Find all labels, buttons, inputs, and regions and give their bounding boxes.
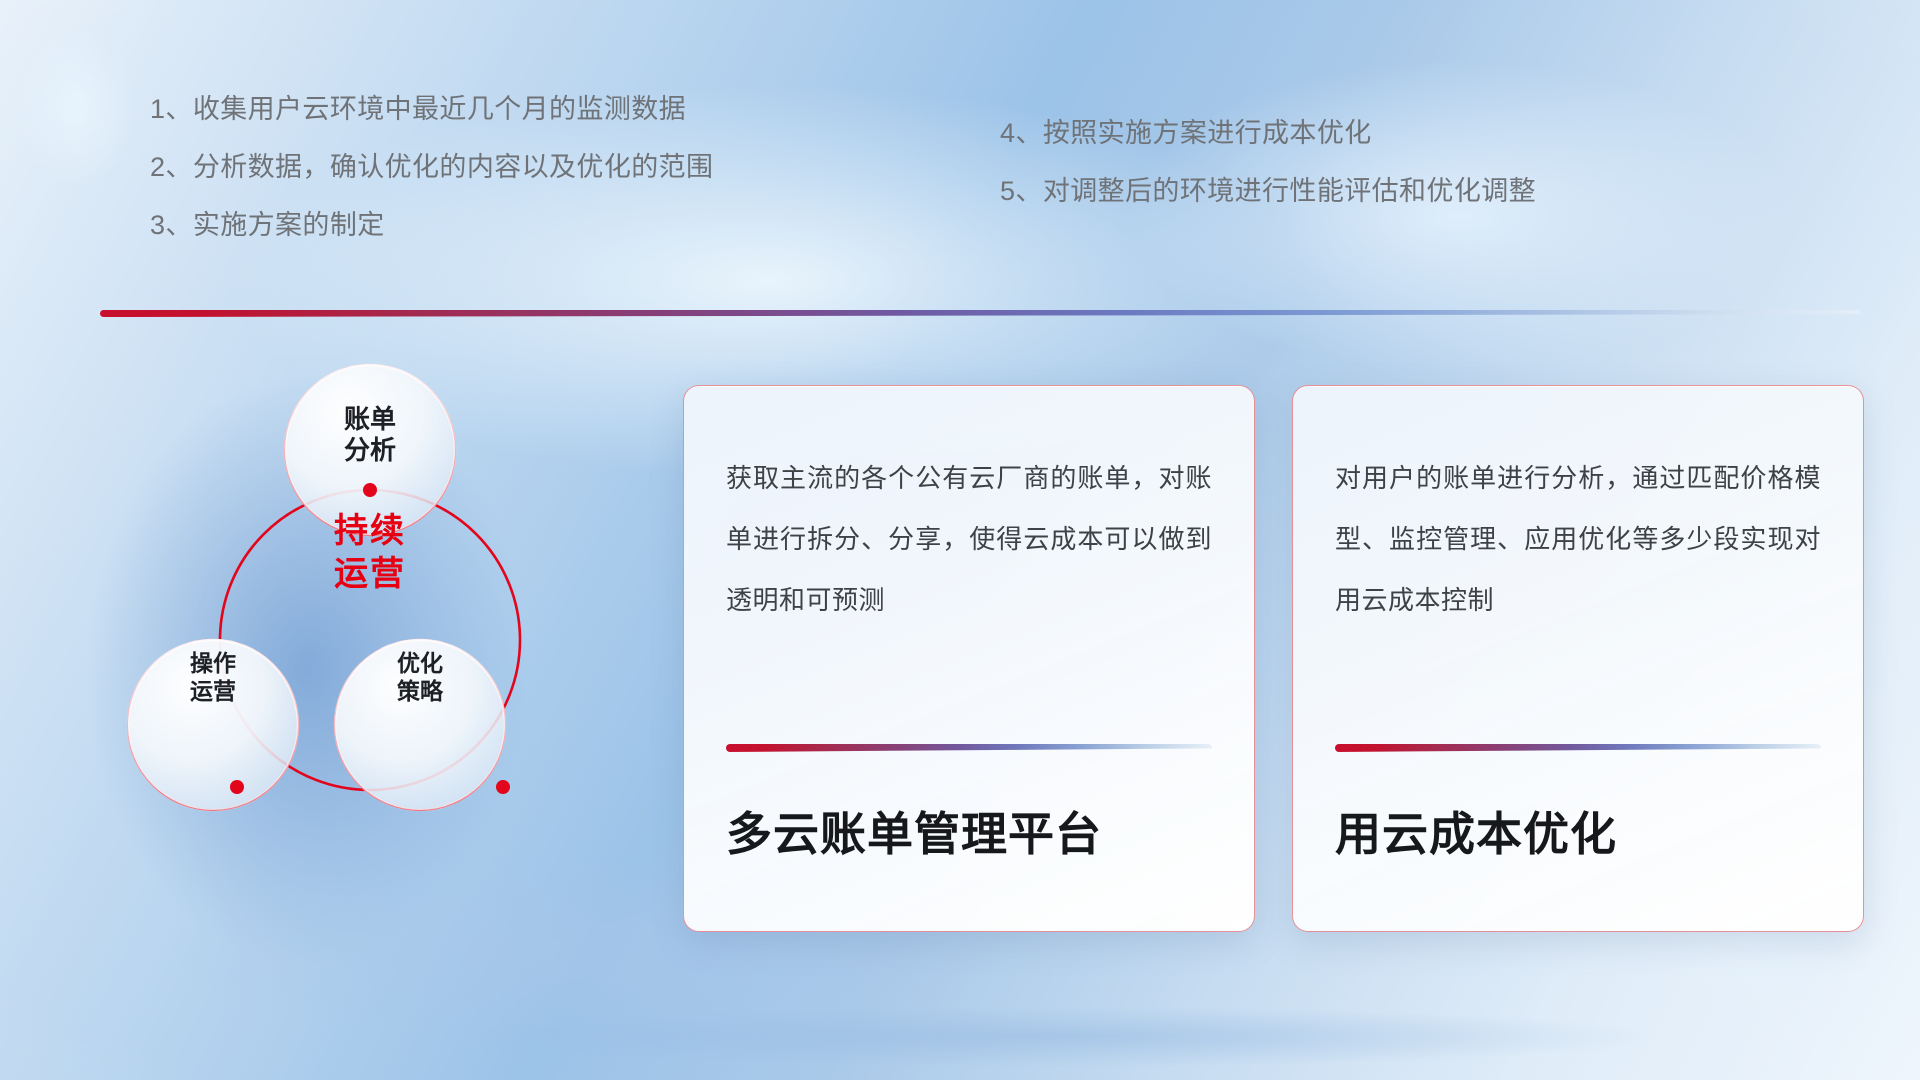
venn-diagram: 账单 分析 操作 运营 优化 策略 持续 运营 <box>95 350 615 910</box>
venn-node-dot-bottom-right <box>496 780 510 794</box>
feature-card-cloud-cost-optimization[interactable]: 对用户的账单进行分析，通过匹配价格模型、监控管理、应用优化等多少段实现对用云成本… <box>1292 385 1864 932</box>
card-title: 用云成本优化 <box>1335 798 1833 864</box>
process-steps-left-column: 1、收集用户云环境中最近几个月的监测数据 2、分析数据，确认优化的内容以及优化的… <box>150 96 713 239</box>
venn-center-label-line1: 持续 <box>260 510 480 553</box>
card-title: 多云账单管理平台 <box>726 798 1224 864</box>
card-accent-rule <box>726 744 1212 752</box>
feature-card-multi-cloud-billing-platform[interactable]: 获取主流的各个公有云厂商的账单，对账单进行拆分、分享，使得云成本可以做到透明和可… <box>683 385 1255 932</box>
venn-center-label-line2: 运营 <box>260 553 480 596</box>
card-description: 获取主流的各个公有云厂商的账单，对账单进行拆分、分享，使得云成本可以做到透明和可… <box>726 448 1212 631</box>
process-step-item: 3、实施方案的制定 <box>150 212 713 239</box>
venn-node-label-line2: 运营 <box>138 678 288 706</box>
process-step-item: 4、按照实施方案进行成本优化 <box>1000 120 1536 147</box>
process-step-item: 5、对调整后的环境进行性能评估和优化调整 <box>1000 178 1536 205</box>
process-steps-section: 1、收集用户云环境中最近几个月的监测数据 2、分析数据，确认优化的内容以及优化的… <box>0 0 1920 300</box>
card-accent-rule <box>1335 744 1821 752</box>
process-step-item: 1、收集用户云环境中最近几个月的监测数据 <box>150 96 713 123</box>
venn-node-billing-analysis: 账单 分析 <box>290 404 450 466</box>
process-steps-right-column: 4、按照实施方案进行成本优化 5、对调整后的环境进行性能评估和优化调整 <box>1000 120 1536 205</box>
process-step-item: 2、分析数据，确认优化的内容以及优化的范围 <box>150 154 713 181</box>
venn-node-label-line1: 账单 <box>290 404 450 435</box>
venn-node-label-line1: 操作 <box>138 650 288 678</box>
venn-center-label: 持续 运营 <box>260 510 480 595</box>
venn-node-label-line2: 策略 <box>345 678 495 706</box>
venn-node-dot-top <box>363 483 377 497</box>
venn-node-operation-ops: 操作 运营 <box>138 650 288 705</box>
card-description: 对用户的账单进行分析，通过匹配价格模型、监控管理、应用优化等多少段实现对用云成本… <box>1335 448 1821 631</box>
venn-node-optimize-policy: 优化 策略 <box>345 650 495 705</box>
venn-node-label-line1: 优化 <box>345 650 495 678</box>
venn-node-dot-bottom-left <box>230 780 244 794</box>
venn-node-label-line2: 分析 <box>290 435 450 466</box>
